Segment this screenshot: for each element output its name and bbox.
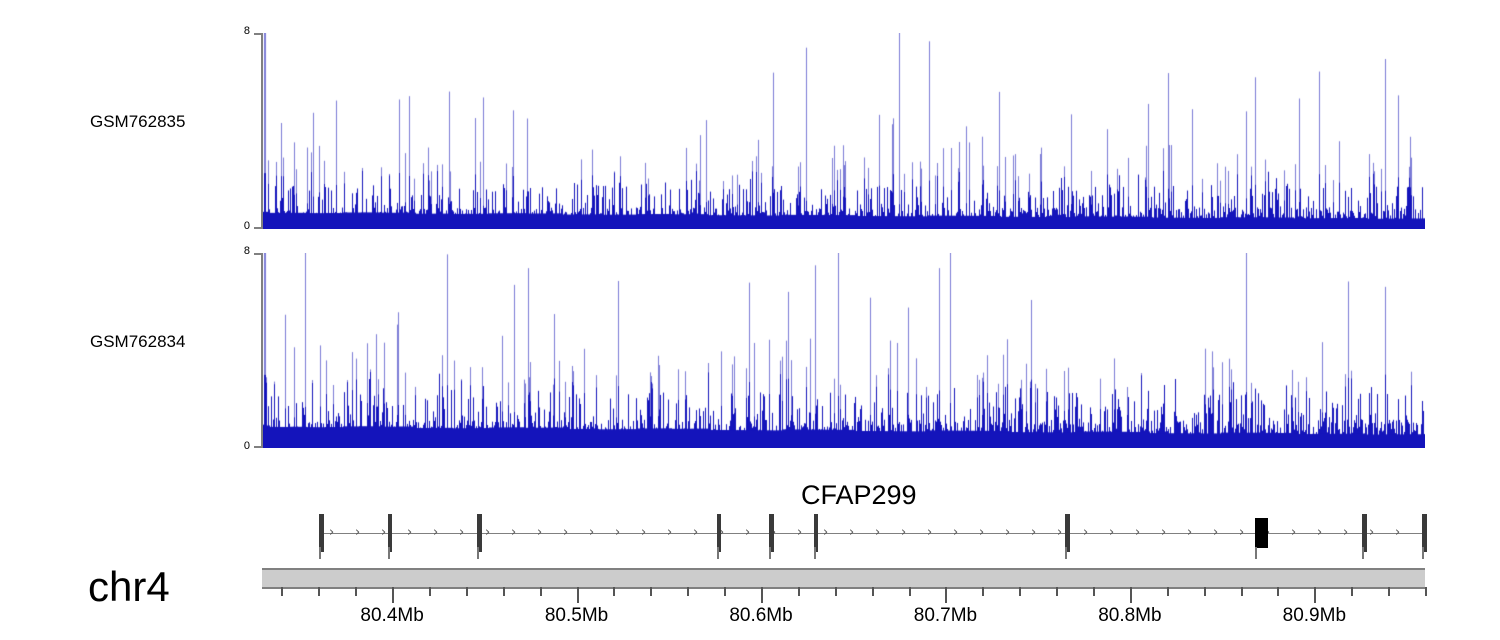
genome-minor-tick: [1093, 587, 1095, 596]
coverage-plot-2: [263, 253, 1425, 448]
track-2-ymin-label: 0: [228, 440, 250, 452]
genome-axis-ticks: 80.4Mb80.5Mb80.6Mb80.7Mb80.8Mb80.9Mb: [0, 555, 1500, 640]
coverage-track-2: GSM762834 8 0: [0, 220, 1500, 460]
genome-major-tick: [1314, 587, 1316, 603]
genome-axis-label: 80.7Mb: [914, 605, 977, 627]
genome-minor-tick: [540, 587, 542, 596]
coverage-plot-1: [263, 33, 1425, 229]
genome-minor-tick: [1241, 587, 1243, 596]
genome-minor-tick: [724, 587, 726, 596]
gene-exons: [0, 470, 1500, 560]
genome-major-tick: [761, 587, 763, 603]
gene-guide-tick: [1362, 547, 1364, 559]
gene-guide-tick: [1065, 547, 1067, 559]
genome-minor-tick: [355, 587, 357, 596]
track-2-tick-top: [254, 253, 263, 255]
genome-minor-tick: [1277, 587, 1279, 596]
track-label-1: GSM762835: [90, 112, 240, 132]
genome-major-tick: [1130, 587, 1132, 603]
gene-model-track: CFAP299 ››››››››››››››››››››››››››››››››…: [0, 470, 1500, 560]
genome-minor-tick: [1425, 587, 1427, 596]
genome-minor-tick: [872, 587, 874, 596]
genome-axis-label: 80.8Mb: [1098, 605, 1161, 627]
genome-browser-view: GSM762835 8 0 GSM762834 8 0 CFAP299 ››››…: [0, 0, 1500, 640]
genome-minor-tick: [909, 587, 911, 596]
genome-axis-label: 80.6Mb: [729, 605, 792, 627]
genome-major-tick: [577, 587, 579, 603]
genome-minor-tick: [613, 587, 615, 596]
genome-minor-tick: [281, 587, 283, 596]
track-1-tick-top: [254, 33, 263, 35]
genome-minor-tick: [650, 587, 652, 596]
gene-guide-tick: [814, 547, 816, 559]
coverage-track-1: GSM762835 8 0: [0, 0, 1500, 240]
genome-axis-label: 80.4Mb: [360, 605, 423, 627]
genome-axis-label: 80.9Mb: [1283, 605, 1346, 627]
genome-minor-tick: [982, 587, 984, 596]
gene-guide-tick: [1255, 547, 1257, 559]
genome-axis-label: 80.5Mb: [545, 605, 608, 627]
genome-minor-tick: [1056, 587, 1058, 596]
gene-guide-tick: [319, 547, 321, 559]
gene-guide-tick: [388, 547, 390, 559]
genome-major-tick: [392, 587, 394, 603]
genome-minor-tick: [1388, 587, 1390, 596]
genome-minor-tick: [687, 587, 689, 596]
genome-minor-tick: [1167, 587, 1169, 596]
track-2-tick-bottom: [254, 446, 263, 448]
genome-axis-track: chr4 80.4Mb80.5Mb80.6Mb80.7Mb80.8Mb80.9M…: [0, 555, 1500, 640]
genome-minor-tick: [503, 587, 505, 596]
genome-minor-tick: [835, 587, 837, 596]
gene-guide-tick: [717, 547, 719, 559]
gene-guide-tick: [477, 547, 479, 559]
coverage-canvas-2: [263, 253, 1425, 448]
genome-minor-tick: [1204, 587, 1206, 596]
track-1-ymax-label: 8: [228, 25, 250, 37]
genome-minor-tick: [1351, 587, 1353, 596]
gene-exon: [1255, 518, 1268, 548]
genome-major-tick: [945, 587, 947, 603]
gene-guide-tick: [1422, 547, 1424, 559]
track-2-ymax-label: 8: [228, 245, 250, 257]
genome-minor-tick: [1019, 587, 1021, 596]
gene-guide-tick: [769, 547, 771, 559]
genome-minor-tick: [429, 587, 431, 596]
genome-minor-tick: [798, 587, 800, 596]
coverage-canvas-1: [263, 33, 1425, 229]
genome-minor-tick: [466, 587, 468, 596]
track-label-2: GSM762834: [90, 332, 240, 352]
genome-minor-tick: [318, 587, 320, 596]
